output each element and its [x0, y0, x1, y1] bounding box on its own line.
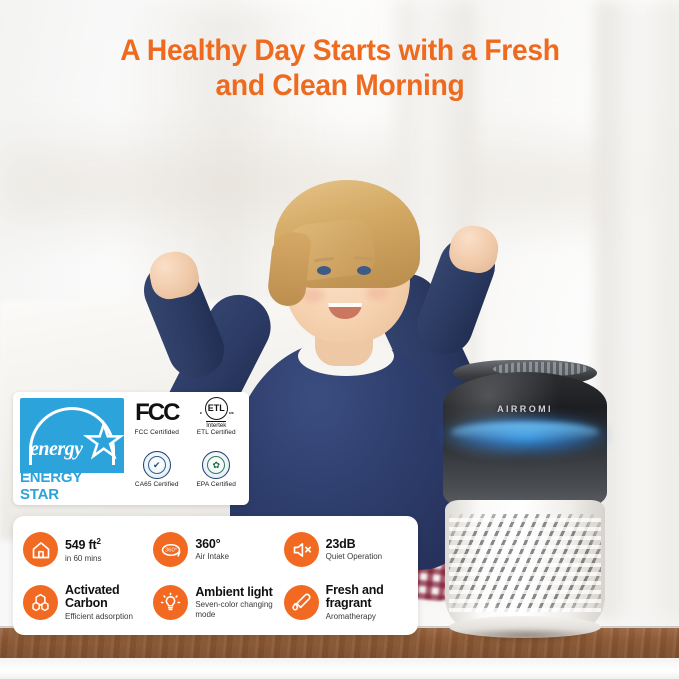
feature-ambient-light: Ambient light Seven-color changing mode — [153, 578, 281, 627]
purifier-vent-rows — [449, 514, 601, 612]
cheek-left — [302, 288, 324, 302]
feature-360-sub: Air Intake — [195, 552, 229, 562]
certification-panel: energy ENERGY STAR FCC FCC Certifided c — [13, 392, 249, 505]
honeycomb-icon — [23, 585, 58, 620]
feature-noise-text: 23dB Quiet Operation — [326, 538, 382, 562]
purifier-body — [445, 500, 605, 630]
cert-fcc-caption: FCC Certifided — [135, 429, 179, 436]
feature-coverage-value: 549 ft — [65, 539, 96, 553]
feature-coverage-sub: in 60 mins — [65, 554, 101, 564]
certification-grid: FCC FCC Certifided c ETL us Intertek — [131, 398, 242, 499]
rotate-360-icon: 360° — [153, 532, 188, 567]
air-purifier-product: AIRROMI — [437, 360, 613, 642]
house-icon — [23, 532, 58, 567]
energy-star-label: ENERGY STAR — [20, 473, 124, 498]
feature-coverage-sup: 2 — [96, 537, 100, 546]
led-glow-highlight — [451, 422, 599, 442]
feature-carbon: Activated Carbon Efficient adsorption — [23, 578, 151, 627]
feature-aroma: Fresh and fragrant Aromatherapy — [284, 578, 412, 627]
feature-ambient-light-sub: Seven-color changing mode — [195, 600, 281, 619]
mute-speaker-icon — [284, 532, 319, 567]
certification-row-top: FCC FCC Certifided c ETL us Intertek — [131, 398, 242, 447]
feature-aroma-sub: Aromatherapy — [326, 612, 412, 622]
ca65-seal-inner: ✔ — [148, 456, 166, 474]
aroma-drop-icon — [284, 585, 319, 620]
product-marketing-image: AIRROMI A Healthy Day Starts with a Fres… — [0, 0, 679, 679]
feature-carbon-text: Activated Carbon Efficient adsorption — [65, 584, 151, 622]
brand-logo: AIRROMI — [437, 404, 613, 414]
fcc-logo-text: FCC — [135, 401, 178, 425]
svg-text:360°: 360° — [165, 547, 177, 553]
feature-360-text: 360° Air Intake — [195, 538, 229, 562]
fcc-icon: FCC — [135, 398, 178, 428]
feature-coverage: 549 ft2 in 60 mins — [23, 525, 151, 574]
headline-line-1: A Healthy Day Starts with a Fresh — [58, 33, 622, 68]
etl-icon: c ETL us Intertek — [205, 398, 228, 428]
certification-row-bottom: ✔ CA65 Certified ✿ EPA Certified — [131, 450, 242, 499]
cert-fcc: FCC FCC Certifided — [131, 398, 183, 447]
lightbulb-icon — [153, 585, 188, 620]
feature-carbon-title: Activated Carbon — [65, 584, 151, 611]
feature-carbon-sub: Efficient adsorption — [65, 612, 151, 622]
feature-360: 360° 360° Air Intake — [153, 525, 281, 574]
feature-noise-title: 23dB — [326, 538, 382, 552]
feature-ambient-light-text: Ambient light Seven-color changing mode — [195, 586, 281, 620]
epa-seal: ✿ — [202, 451, 230, 479]
cert-epa-caption: EPA Certified — [197, 481, 236, 488]
eye-left — [317, 266, 331, 275]
etl-letters: ETL — [208, 404, 225, 413]
cert-etl: c ETL us Intertek ETL Certified — [191, 398, 243, 447]
ca65-seal-icon: ✔ — [143, 450, 171, 480]
feature-360-title: 360° — [195, 538, 229, 552]
cert-ca65: ✔ CA65 Certified — [131, 450, 183, 499]
cert-ca65-caption: CA65 Certified — [135, 481, 179, 488]
feature-aroma-text: Fresh and fragrant Aromatherapy — [326, 584, 412, 622]
etl-right-mark: us — [229, 411, 234, 415]
cheek-right — [366, 286, 388, 300]
etl-left-mark: c — [200, 411, 202, 415]
feature-noise: 23dB Quiet Operation — [284, 525, 412, 574]
epa-seal-inner: ✿ — [207, 456, 225, 474]
cert-etl-caption: ETL Certified — [197, 429, 236, 436]
etl-circle: c ETL us — [205, 397, 228, 420]
headline-line-2: and Clean Morning — [58, 68, 622, 103]
feature-coverage-title: 549 ft2 — [65, 535, 101, 553]
etl-mark-wrap: c ETL us Intertek — [205, 397, 228, 429]
energy-star-badge: energy ENERGY STAR — [20, 398, 124, 498]
ca65-seal: ✔ — [143, 451, 171, 479]
epa-seal-icon: ✿ — [202, 450, 230, 480]
skirting-board — [0, 658, 679, 679]
intertek-label: Intertek — [206, 421, 226, 429]
purifier-contact-shadow — [455, 628, 597, 642]
feature-highlights-card: 549 ft2 in 60 mins 360° 360° Air Intake — [13, 516, 418, 635]
feature-noise-sub: Quiet Operation — [326, 552, 382, 562]
feature-aroma-title: Fresh and fragrant — [326, 584, 412, 611]
feature-coverage-text: 549 ft2 in 60 mins — [65, 535, 101, 563]
page-title: A Healthy Day Starts with a Fresh and Cl… — [58, 33, 622, 103]
eye-right — [357, 266, 371, 275]
feature-ambient-light-title: Ambient light — [195, 586, 281, 600]
cert-epa: ✿ EPA Certified — [191, 450, 243, 499]
